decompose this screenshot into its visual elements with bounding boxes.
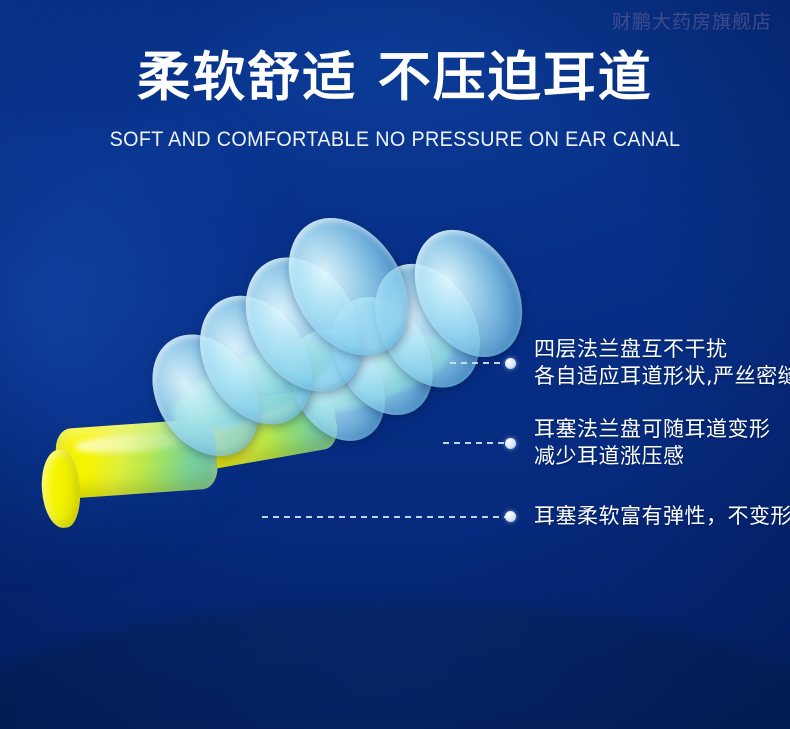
callout-line: 四层法兰盘互不干扰 bbox=[534, 336, 790, 363]
leader-line bbox=[262, 516, 506, 518]
callout-text: 耳塞柔软富有弹性，不变形 bbox=[534, 503, 790, 530]
product-image bbox=[10, 225, 490, 525]
dot-marker bbox=[505, 358, 516, 369]
store-watermark: 财鹏大药房旗舰店 bbox=[612, 7, 772, 34]
leader-line bbox=[443, 442, 506, 444]
page-title: 柔软舒适 不压迫耳道 bbox=[0, 48, 790, 108]
dot-marker bbox=[505, 438, 516, 449]
callout-deformable: 耳塞法兰盘可随耳道变形 减少耳道涨压感 bbox=[443, 416, 771, 470]
callout-elastic: 耳塞柔软富有弹性，不变形 bbox=[262, 503, 790, 530]
callout-line: 减少耳道涨压感 bbox=[534, 443, 771, 470]
dot-marker bbox=[505, 511, 516, 522]
page-subtitle: SOFT AND COMFORTABLE NO PRESSURE ON EAR … bbox=[24, 127, 767, 153]
callout-line: 耳塞法兰盘可随耳道变形 bbox=[534, 416, 771, 443]
callout-line: 各自适应耳道形状,严丝密缝 bbox=[534, 363, 790, 390]
callout-flange-layers: 四层法兰盘互不干扰 各自适应耳道形状,严丝密缝 bbox=[450, 336, 790, 390]
leader-line bbox=[450, 362, 506, 364]
product-feature-banner: 财鹏大药房旗舰店 柔软舒适 不压迫耳道 SOFT AND COMFORTABLE… bbox=[0, 0, 790, 729]
earplug-lower-left bbox=[0, 195, 381, 546]
callout-line: 耳塞柔软富有弹性，不变形 bbox=[534, 503, 790, 530]
callout-text: 耳塞法兰盘可随耳道变形 减少耳道涨压感 bbox=[534, 416, 771, 470]
callout-text: 四层法兰盘互不干扰 各自适应耳道形状,严丝密缝 bbox=[534, 336, 790, 390]
